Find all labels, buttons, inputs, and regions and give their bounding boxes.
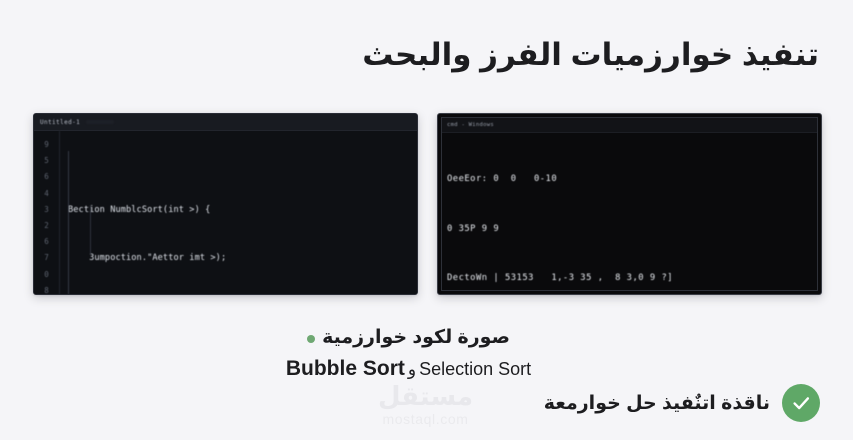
indent-guide: [90, 205, 91, 255]
line-number: 7: [34, 250, 59, 266]
terminal-screenshot: cmd - Windows OeeEor: 0 0 0-10 0 35P 9 9…: [437, 113, 822, 295]
line-number: 0: [34, 267, 59, 283]
terminal-line: 0 35P 9 9: [447, 221, 817, 238]
code-editor-screenshot: Untitled-1 9 5 6 4 3 2 6 7 0 8 11 Bectio…: [33, 113, 418, 295]
caption-left-arabic-row: صورة لكود خوارزمية: [286, 326, 531, 351]
editor-tab-inactive: [86, 120, 114, 124]
line-number: 4: [34, 186, 59, 202]
watermark-logo-text: مستقل: [338, 383, 513, 409]
editor-tab-active: Untitled-1: [40, 119, 80, 126]
line-number: 6: [34, 234, 59, 250]
caption-right-block: ناقذة اتنٌفيذ حل خوارمعة: [544, 384, 820, 422]
caption-left-arabic-text: صورة لكود خوارزمية: [322, 326, 510, 351]
caption-left-block: صورة لكود خوارزمية Bubble SortوSelection…: [0, 326, 853, 382]
editor-code-area[interactable]: Bection NumblcSort(int >) { 3umpoction."…: [60, 131, 417, 294]
line-number: 2: [34, 218, 59, 234]
caption-right-text: ناقذة اتنٌفيذ حل خوارمعة: [544, 392, 770, 415]
editor-tab-bar: Untitled-1: [34, 114, 417, 131]
algorithm-name-selection-sort: Selection Sort: [419, 359, 531, 379]
code-line: 3umpoction."Aettor imt >);: [68, 250, 417, 266]
line-number: 8: [34, 283, 59, 295]
code-line: Bection NumblcSort(int >) {: [68, 202, 417, 218]
line-number: 6: [34, 169, 59, 185]
indent-guide: [68, 151, 69, 294]
bullet-dot-icon: [307, 335, 315, 343]
algorithm-name-bubble-sort: Bubble Sort: [286, 357, 405, 380]
line-number: 5: [34, 153, 59, 169]
arabic-conjunction: و: [405, 360, 419, 379]
terminal-line: OeeEor: 0 0 0-10: [447, 171, 817, 188]
editor-body: 9 5 6 4 3 2 6 7 0 8 11 Bection NumblcSor…: [34, 131, 417, 294]
caption-left-english-row: Bubble SortوSelection Sort: [286, 355, 531, 383]
page-title: تنفيذ خوارزميات الفرز والبحث: [199, 36, 819, 75]
watermark-url-text: mostaql.com: [338, 412, 513, 426]
terminal-window: cmd - Windows OeeEor: 0 0 0-10 0 35P 9 9…: [441, 117, 818, 291]
terminal-line: DectoWn | 53153 1,-3 35 , 8 3,0 9 ?]: [447, 270, 817, 287]
watermark: مستقل mostaql.com: [338, 383, 513, 426]
line-number: 3: [34, 202, 59, 218]
check-circle-icon: [782, 384, 820, 422]
line-number: 9: [34, 137, 59, 153]
editor-line-number-gutter: 9 5 6 4 3 2 6 7 0 8 11: [34, 131, 60, 294]
slide-canvas: { "page": { "background_color": "#f5f5f8…: [0, 0, 853, 440]
terminal-tab-active: cmd - Windows: [447, 122, 494, 128]
terminal-tab-bar: cmd - Windows: [442, 118, 817, 133]
terminal-output[interactable]: OeeEor: 0 0 0-10 0 35P 9 9 DectoWn | 531…: [442, 133, 817, 295]
